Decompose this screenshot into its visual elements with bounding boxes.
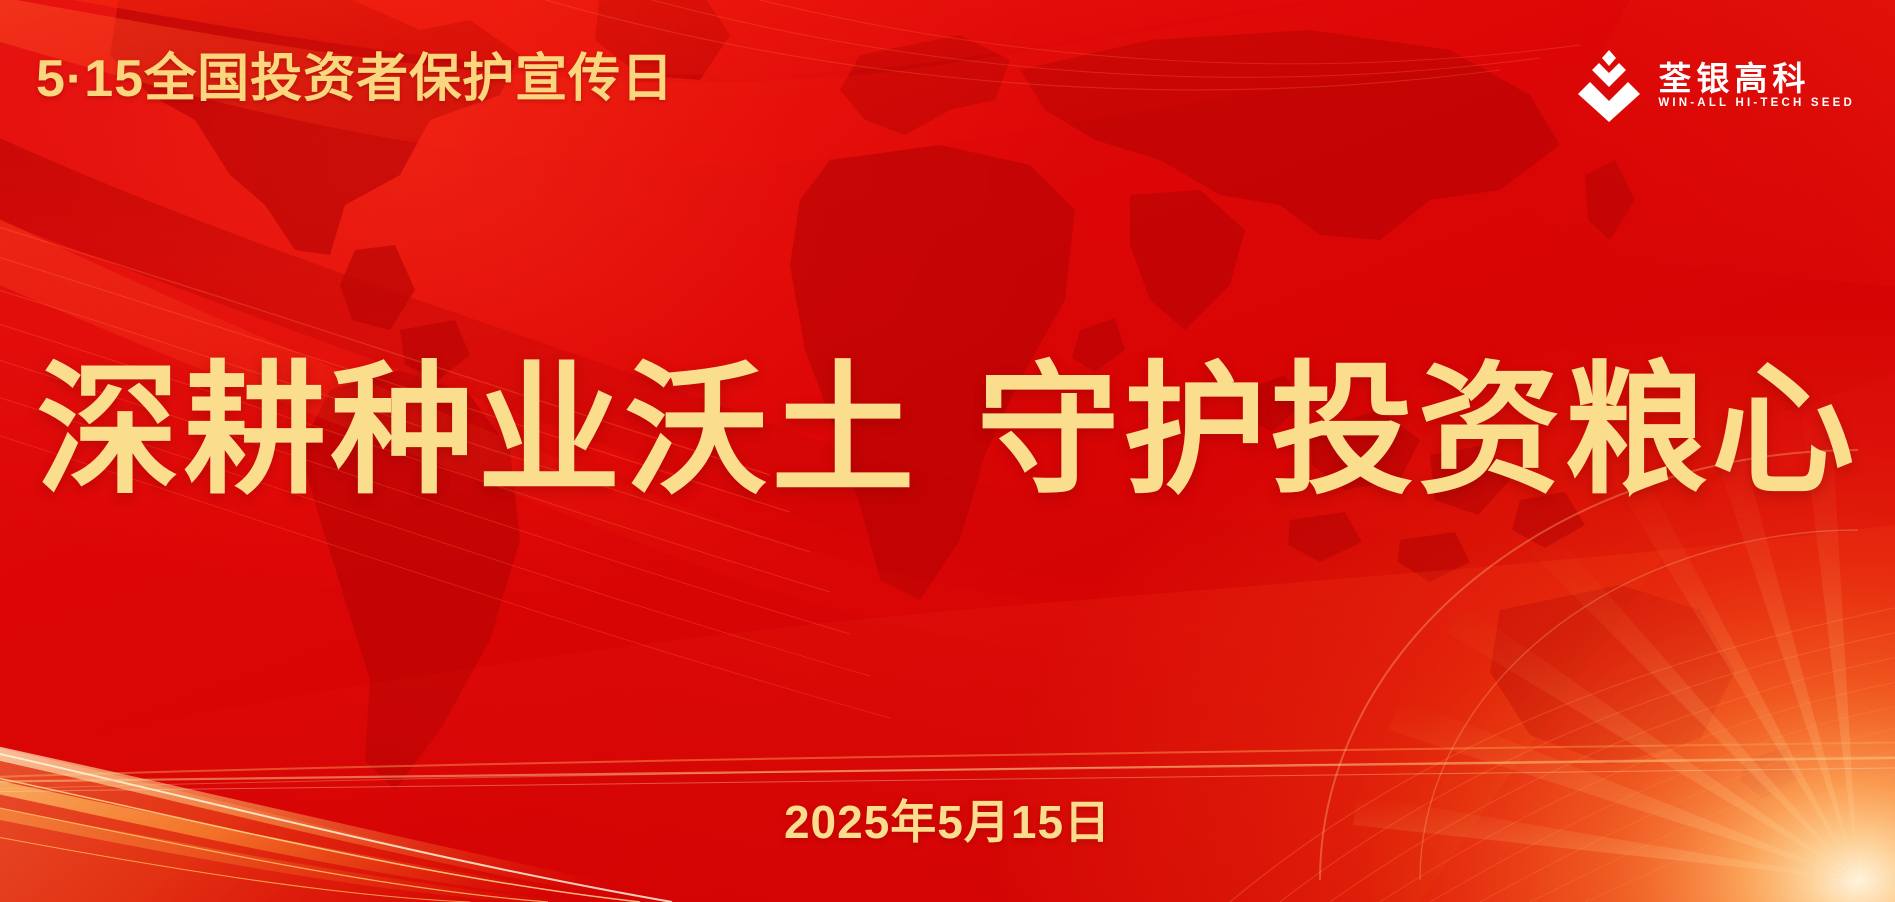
main-title-part2: 守护投资粮心 [977, 352, 1859, 512]
win-all-seedling-chevron-logo-icon [1578, 50, 1640, 122]
logo-company-en: WIN-ALL HI-TECH SEED [1658, 98, 1855, 110]
logo-text-block: 荃银高科 WIN-ALL HI-TECH SEED [1658, 62, 1855, 110]
main-title-part1: 深耕种业沃土 [37, 352, 919, 512]
event-date-text: 2025年5月15日 [784, 796, 1111, 848]
company-logo: 荃银高科 WIN-ALL HI-TECH SEED [1578, 50, 1855, 122]
logo-company-cn: 荃银高科 [1658, 62, 1855, 95]
poster-banner: 5·15全国投资者保护宣传日 荃银高科 WIN-ALL HI-TECH SEED… [0, 0, 1895, 902]
main-title: 深耕种业沃土守护投资粮心 [0, 352, 1895, 512]
page-tagline: 5·15全国投资者保护宣传日 [36, 53, 674, 105]
event-date: 2025年5月15日 [0, 786, 1895, 852]
